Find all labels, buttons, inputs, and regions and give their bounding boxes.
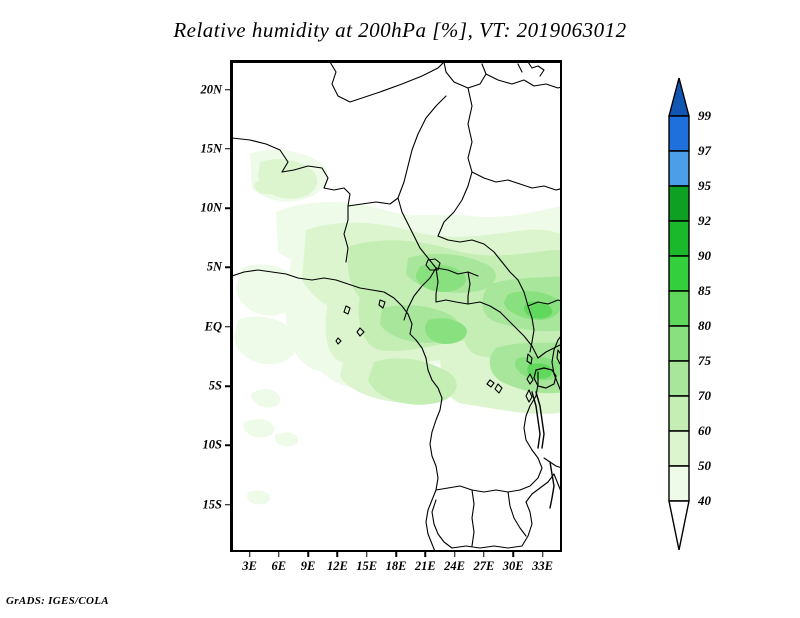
x-tick [307, 552, 309, 557]
colorbar-label-70: 70 [698, 388, 711, 404]
x-axis-label-21E: 21E [415, 559, 436, 574]
x-tick [249, 552, 251, 557]
y-axis-label-10N: 10N [200, 201, 222, 216]
x-tick [337, 552, 339, 557]
x-tick [278, 552, 280, 557]
colorbar-swatches [668, 78, 692, 550]
y-tick [225, 326, 230, 328]
footer-credit: GrADS: IGES/COLA [6, 595, 109, 607]
x-tick [454, 552, 456, 557]
x-axis-label-3E: 3E [242, 559, 257, 574]
y-axis-label-5N: 5N [207, 260, 222, 275]
x-axis-label-24E: 24E [444, 559, 465, 574]
y-axis-label-15S: 15S [203, 497, 222, 512]
x-tick [512, 552, 514, 557]
y-tick [225, 148, 230, 150]
colorbar-label-50: 50 [698, 458, 711, 474]
x-tick [366, 552, 368, 557]
x-tick [395, 552, 397, 557]
x-axis-label-18E: 18E [386, 559, 407, 574]
y-axis-label-20N: 20N [200, 82, 222, 97]
y-tick [225, 385, 230, 387]
y-axis-label-15N: 15N [200, 141, 222, 156]
colorbar-extend-low [669, 501, 689, 550]
y-axis-label-10S: 10S [203, 438, 222, 453]
colorbar: 99 97 95 92 90 85 80 75 70 60 50 40 [668, 78, 692, 550]
colorbar-label-60: 60 [698, 423, 711, 439]
y-tick [225, 504, 230, 506]
plot-canvas: Relative humidity at 200hPa [%], VT: 201… [0, 0, 800, 618]
colorbar-label-99: 99 [698, 108, 711, 124]
x-axis-label-12E: 12E [327, 559, 348, 574]
x-axis-label-6E: 6E [272, 559, 287, 574]
x-axis-label-15E: 15E [356, 559, 377, 574]
colorbar-label-95: 95 [698, 178, 711, 194]
map-plot-area [232, 62, 562, 552]
colorbar-label-90: 90 [698, 248, 711, 264]
x-axis-label-30E: 30E [503, 559, 524, 574]
page-title: Relative humidity at 200hPa [%], VT: 201… [0, 18, 800, 43]
colorbar-label-92: 92 [698, 213, 711, 229]
x-tick [483, 552, 485, 557]
x-tick [425, 552, 427, 557]
x-axis-label-27E: 27E [473, 559, 494, 574]
colorbar-label-80: 80 [698, 318, 711, 334]
y-tick [225, 207, 230, 209]
map-frame [230, 60, 562, 552]
x-tick [542, 552, 544, 557]
y-tick [225, 445, 230, 447]
colorbar-extend-high [669, 78, 689, 116]
y-axis-label-EQ: EQ [205, 319, 222, 334]
x-axis-label-9E: 9E [301, 559, 316, 574]
y-axis-label-5S: 5S [209, 379, 222, 394]
y-tick [225, 267, 230, 269]
y-tick [225, 89, 230, 91]
colorbar-label-85: 85 [698, 283, 711, 299]
colorbar-label-97: 97 [698, 143, 711, 159]
x-axis-label-33E: 33E [532, 559, 553, 574]
colorbar-label-40: 40 [698, 493, 711, 509]
map-panel: 20N 15N 10N 5N EQ 5S 10S 15S 3E 6E 9E [230, 60, 562, 552]
colorbar-label-75: 75 [698, 353, 711, 369]
